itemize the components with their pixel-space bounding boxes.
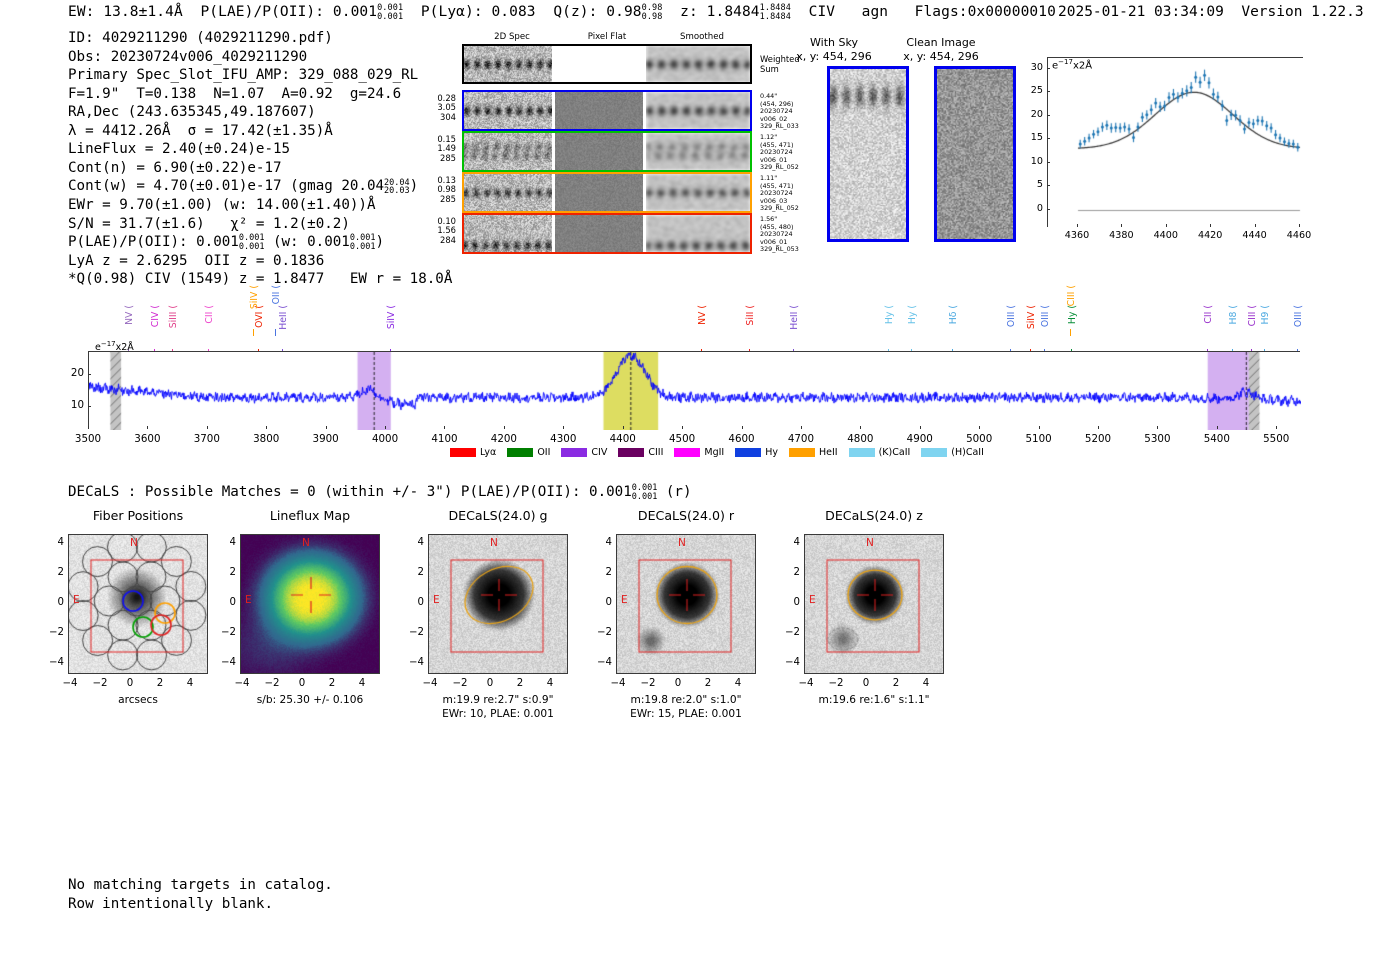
object-info-block: ID: 4029211290 (4029211290.pdf) Obs: 202… (68, 29, 452, 289)
emission-line-label: HeII ( (789, 305, 800, 330)
legend-swatch (561, 448, 587, 457)
cutout-ytick: 2 (780, 567, 800, 578)
line-fit-xtick: 4380 (1105, 230, 1137, 241)
cutout-xtick: 0 (118, 678, 142, 689)
montage-row-left-label: 0.15 1.49 285 (396, 135, 456, 163)
cutout-caption-1: arcsecs (38, 694, 238, 707)
cutout-xtick: 2 (884, 678, 908, 689)
line-fit-xtick: 4400 (1150, 230, 1182, 241)
panel-title-grayscale: DECaLS(24.0) g (403, 508, 593, 523)
footer-line-2: Row intentionally blank. (68, 895, 333, 914)
spectrum-xtick-mark (1217, 426, 1218, 429)
header-qz: Q(z): 0.98 (553, 4, 641, 20)
line-fit-xtick-mark (1299, 224, 1300, 227)
cutout-ytick: −4 (44, 657, 64, 668)
cutout-ytick: −4 (404, 657, 424, 668)
cell-smoothed (646, 174, 750, 211)
legend-item: Hy (735, 447, 778, 458)
cutout-xtick: 2 (148, 678, 172, 689)
spectrum-xtick-mark (266, 426, 267, 429)
info-primary-spec: Primary Spec_Slot_IFU_AMP: 329_088_029_R… (68, 66, 452, 85)
montage-row-right-label: 0.44" (454, 296) 20230724 v006_02 329_RL… (760, 93, 799, 131)
legend-label: CIV (591, 447, 607, 458)
compass-east: E (245, 594, 252, 606)
info-lineflux: LineFlux = 2.40(±0.24)e-15 (68, 140, 452, 159)
cutout-xtick: 4 (538, 678, 562, 689)
cutout-ytick: 0 (404, 597, 424, 608)
montage-row-right-label: 1.11" (455, 471) 20230724 v006_03 329_RL… (760, 175, 799, 213)
legend-label: (H)CaII (951, 447, 984, 458)
cell-pixelflat (555, 133, 643, 170)
cutout-xtick: 0 (290, 678, 314, 689)
info-cont-n: Cont(n) = 6.90(±0.22)e-17 (68, 159, 452, 178)
spectrum-xtick-mark (207, 426, 208, 429)
cutout-ytick: 4 (780, 537, 800, 548)
cutout-caption-1: m:19.9 re:2.7" s:0.9" (398, 694, 598, 707)
line-fit-ytick: 5 (1023, 179, 1043, 190)
emission-line-label: NV ( (124, 305, 135, 325)
legend-swatch (450, 448, 476, 457)
line-fit-ytick-mark (1047, 91, 1050, 92)
legend-item: MgII (674, 447, 724, 458)
header-flags: Flags:0x00000010 (915, 4, 1056, 20)
cutout-ytick: 2 (592, 567, 612, 578)
cutout-lineflux[interactable] (240, 534, 380, 674)
header-qz-range: 0.980.98 (642, 4, 663, 21)
info-cont-w: Cont(w) = 4.70(±0.01)e-17 (gmag 20.0420.… (68, 177, 452, 196)
montage-row[interactable]: 0.13 0.98 2851.11" (455, 471) 20230724 v… (462, 172, 752, 213)
emission-line-label: OIII ( (1040, 305, 1051, 327)
spectrum-xtick: 3500 (66, 433, 110, 445)
montage-row-left-label: 0.28 3.05 304 (396, 94, 456, 122)
emission-line-label: SiII ( (745, 305, 756, 326)
legend-swatch (618, 448, 644, 457)
legend-label: CIII (648, 447, 663, 458)
cutout-xtick: 4 (178, 678, 202, 689)
header-summary-line: EW: 13.8±1.4Å P(LAE)/P(OII): 0.0010.0010… (68, 4, 1056, 22)
cutout-caption-1: m:19.6 re:1.6" s:1.1" (774, 694, 974, 707)
compass-east: E (433, 594, 440, 606)
cell-smoothed (646, 215, 750, 252)
info-redshifts: LyA z = 2.6295 OII z = 0.1836 (68, 252, 452, 271)
montage-row[interactable]: 0.28 3.05 3040.44" (454, 296) 20230724 v… (462, 90, 752, 131)
legend-swatch (507, 448, 533, 457)
spectrum-xtick-mark (147, 426, 148, 429)
spectrum-xtick: 4000 (363, 433, 407, 445)
line-fit-ytick-mark (1047, 68, 1050, 69)
cutout-ytick: −4 (592, 657, 612, 668)
line-fit-ytick: 20 (1023, 109, 1043, 120)
emission-line-label: OII ( (271, 285, 282, 304)
spectrum-units-label: e−17x2Å (95, 340, 134, 353)
panel-title-fibers: Fiber Positions (43, 508, 233, 523)
cutout-ytick: 0 (216, 597, 236, 608)
cutout-caption-2: EWr: 10, PLAE: 0.001 (398, 708, 598, 721)
emission-line-tick (275, 329, 276, 336)
cutout-xtick: 4 (350, 678, 374, 689)
cutout-xtick: −2 (448, 678, 472, 689)
spectrum-xtick-mark (860, 426, 861, 429)
spectrum-xtick: 4600 (720, 433, 764, 445)
spectrum-xtick-mark (682, 426, 683, 429)
spectrum-ytick: 10 (60, 399, 84, 411)
spectrum-xtick: 4500 (660, 433, 704, 445)
col-title-2dspec: 2D Spec (462, 32, 562, 42)
line-fit-xtick-mark (1255, 224, 1256, 227)
cutout-xtick: −2 (260, 678, 284, 689)
montage-row-left-label: 0.13 0.98 285 (396, 176, 456, 204)
line-fit-xtick: 4460 (1283, 230, 1315, 241)
spectrum-xtick-mark (801, 426, 802, 429)
spectrum-xtick: 5000 (957, 433, 1001, 445)
compass-east: E (809, 594, 816, 606)
emission-line-label: H9 ( (1260, 305, 1271, 325)
cutout-ytick: 0 (44, 597, 64, 608)
compass-east: E (73, 594, 80, 606)
cutout-xtick: −4 (606, 678, 630, 689)
emission-line-label: SiIII ( (168, 305, 179, 328)
cleanimage-subtitle: x, y: 454, 296 (886, 50, 996, 63)
line-fit-xtick-mark (1166, 224, 1167, 227)
cutout-ytick: −2 (592, 627, 612, 638)
line-fit-ytick: 15 (1023, 132, 1043, 143)
emission-line-label: H8 ( (1228, 305, 1239, 325)
spectrum-xtick: 4700 (779, 433, 823, 445)
header-ew: EW: 13.8±1.4Å (68, 4, 183, 20)
cutout-xtick: 4 (914, 678, 938, 689)
spectrum-ytick-mark (88, 406, 91, 407)
montage-row-left-label: 0.10 1.56 284 (396, 217, 456, 245)
legend-item: (K)CaII (849, 447, 911, 458)
emission-line-label: SiIV ( (249, 285, 260, 309)
header-species: CIV (809, 4, 836, 20)
cutout-xtick: −2 (88, 678, 112, 689)
cutout-xtick: −4 (794, 678, 818, 689)
cutout-grayscale[interactable] (616, 534, 756, 674)
spectrum-xtick: 3800 (244, 433, 288, 445)
line-fit-ytick: 30 (1023, 62, 1043, 73)
spectrum-xtick-mark (920, 426, 921, 429)
compass-east: E (621, 594, 628, 606)
emission-line-tick (253, 329, 254, 336)
cell-pixelflat (555, 174, 643, 211)
header-version: Version 1.22.3 (1241, 4, 1363, 20)
emission-line-label: CIII ( (1247, 305, 1258, 326)
cell-pixelflat (555, 46, 643, 82)
cutout-ytick: −2 (780, 627, 800, 638)
cutout-xtick: −4 (230, 678, 254, 689)
line-fit-ytick-mark (1047, 185, 1050, 186)
info-plae: P(LAE)/P(OII): 0.0010.0010.001 (w: 0.001… (68, 233, 452, 252)
emission-line-label: CII ( (204, 305, 215, 324)
line-fit-ytick-mark (1047, 115, 1050, 116)
emission-line-label: Hy ( (1067, 305, 1078, 324)
cell-pixelflat (555, 92, 643, 129)
spectrum-xtick: 4800 (838, 433, 882, 445)
spectrum-xtick-mark (444, 426, 445, 429)
legend-item: HeII (789, 447, 838, 458)
withsky-cutout[interactable] (827, 66, 909, 242)
line-fit-plot[interactable] (1047, 57, 1303, 227)
emission-line-label: SiIV ( (1026, 305, 1037, 329)
emission-line-label: CIII ( (1066, 285, 1077, 306)
legend-label: Hy (765, 447, 778, 458)
compass-north: N (302, 537, 310, 549)
cell-smoothed (646, 46, 750, 82)
info-sn-chi: S/N = 31.7(±1.6) χ² = 1.2(±0.2) (68, 215, 452, 234)
info-lambda-sigma: λ = 4412.26Å σ = 17.42(±1.35)Å (68, 122, 452, 141)
compass-north: N (490, 537, 498, 549)
header-z: z: 1.8484 (680, 4, 759, 20)
spectrum-xtick: 4200 (482, 433, 526, 445)
footer-note: No matching targets in catalog. Row inte… (68, 876, 333, 913)
legend-label: Lyα (480, 447, 496, 458)
header-plae-poii-range: 0.0010.001 (377, 4, 403, 21)
cutout-ytick: −2 (44, 627, 64, 638)
cutout-caption-1: m:19.8 re:2.0" s:1.0" (586, 694, 786, 707)
legend-item: CIV (561, 447, 607, 458)
spectrum-xtick: 3600 (125, 433, 169, 445)
spectrum-xtick: 4300 (541, 433, 585, 445)
cutout-ytick: −4 (780, 657, 800, 668)
cutout-caption-1: s/b: 25.30 +/- 0.106 (210, 694, 410, 707)
montage-row[interactable]: 0.15 1.49 2851.12" (455, 471) 20230724 v… (462, 131, 752, 172)
cutout-ytick: 4 (592, 537, 612, 548)
legend-item: (H)CaII (921, 447, 984, 458)
cutout-grayscale[interactable] (428, 534, 568, 674)
emission-line-label: Hy ( (884, 305, 895, 324)
cell-2dspec (464, 133, 552, 170)
spectrum-xtick-mark (979, 426, 980, 429)
cell-smoothed (646, 92, 750, 129)
cutout-ytick: 2 (404, 567, 424, 578)
emission-line-label: OIII ( (1293, 305, 1304, 327)
cutout-grayscale[interactable] (804, 534, 944, 674)
spectrum-xtick-mark (88, 426, 89, 429)
withsky-subtitle: x, y: 454, 296 (779, 50, 889, 63)
cutout-xtick: 2 (508, 678, 532, 689)
montage-row-weighted-sum[interactable]: Weighted Sum (462, 44, 752, 84)
cutout-ytick: 2 (44, 567, 64, 578)
cell-pixelflat (555, 215, 643, 252)
compass-north: N (678, 537, 686, 549)
legend-swatch (789, 448, 815, 457)
cutout-ytick: 2 (216, 567, 236, 578)
cutout-ytick: −2 (216, 627, 236, 638)
spectrum-xtick-mark (1098, 426, 1099, 429)
spectrum-xtick: 3700 (185, 433, 229, 445)
cutout-ytick: 0 (780, 597, 800, 608)
emission-line-label: CII ( (1203, 305, 1214, 324)
legend-swatch (849, 448, 875, 457)
cutout-xtick: 0 (854, 678, 878, 689)
panel-title-grayscale: DECaLS(24.0) r (591, 508, 781, 523)
spectrum-xtick: 4100 (422, 433, 466, 445)
cell-2dspec (464, 92, 552, 129)
emission-line-tick (1070, 329, 1071, 336)
info-seeing: F=1.9" T=0.138 N=1.07 A=0.92 g=24.6 (68, 85, 452, 104)
cutout-xtick: −4 (58, 678, 82, 689)
header-plae-poii: P(LAE)/P(OII): 0.001 (200, 4, 377, 20)
cleanimage-title: Clean Image (886, 36, 996, 49)
col-title-pixelflat: Pixel Flat (557, 32, 657, 42)
cutout-ytick: 0 (592, 597, 612, 608)
col-title-smoothed: Smoothed (652, 32, 752, 42)
spectrum-xtick: 5500 (1254, 433, 1298, 445)
montage-row-right-label: 1.56" (455, 480) 20230724 v006_01 329_RL… (760, 216, 799, 254)
line-fit-ytick: 0 (1023, 203, 1043, 214)
cutout-xtick: −2 (636, 678, 660, 689)
line-fit-xtick-mark (1210, 224, 1211, 227)
header-timestamp-version: 2025-01-21 03:34:09 Version 1.22.3 (1058, 4, 1364, 20)
legend-swatch (735, 448, 761, 457)
info-id: ID: 4029211290 (4029211290.pdf) (68, 29, 452, 48)
line-fit-xtick: 4420 (1194, 230, 1226, 241)
spectrum-xtick: 5100 (1017, 433, 1061, 445)
cutout-ytick: 4 (44, 537, 64, 548)
emission-line-label: NV ( (697, 305, 708, 325)
cutout-caption-2: EWr: 15, PLAE: 0.001 (586, 708, 786, 721)
panel-title-grayscale: DECaLS(24.0) z (779, 508, 969, 523)
cutout-xtick: 2 (320, 678, 344, 689)
line-fit-ytick: 25 (1023, 85, 1043, 96)
cutout-xtick: 0 (478, 678, 502, 689)
withsky-title: With Sky (779, 36, 889, 49)
full-spectrum-plot[interactable] (88, 351, 1300, 429)
compass-north: N (866, 537, 874, 549)
legend-item: Lyα (450, 447, 496, 458)
cutout-ytick: −2 (404, 627, 424, 638)
panel-title-lineflux: Lineflux Map (215, 508, 405, 523)
emission-line-label: CIV ( (150, 305, 161, 327)
info-qline: *Q(0.98) CIV (1549) z = 1.8477 EW r = 18… (68, 270, 452, 289)
line-fit-ytick: 10 (1023, 156, 1043, 167)
legend-label: HeII (819, 447, 838, 458)
header-plya: P(Lyα): 0.083 (421, 4, 536, 20)
line-fit-xtick-mark (1077, 224, 1078, 227)
spectrum-xtick: 5300 (1135, 433, 1179, 445)
cutout-xtick: 0 (666, 678, 690, 689)
cell-smoothed (646, 133, 750, 170)
spectrum-xtick: 3900 (304, 433, 348, 445)
info-obs: Obs: 20230724v006_4029211290 (68, 48, 452, 67)
legend-label: MgII (704, 447, 724, 458)
cleanimage-cutout[interactable] (934, 66, 1016, 242)
spectrum-xtick-mark (1276, 426, 1277, 429)
montage-row[interactable]: 0.10 1.56 2841.56" (455, 480) 20230724 v… (462, 213, 752, 254)
legend-swatch (674, 448, 700, 457)
info-ewr: EWr = 9.70(±1.00) (w: 14.00(±1.40))Å (68, 196, 452, 215)
spectrum-xtick: 5200 (1076, 433, 1120, 445)
cutout-xtick: 2 (696, 678, 720, 689)
cutout-xtick: −4 (418, 678, 442, 689)
cutout-ytick: 4 (404, 537, 424, 548)
montage-row-right-label: 1.12" (455, 471) 20230724 v006_01 329_RL… (760, 134, 799, 172)
spectrum-xtick-mark (385, 426, 386, 429)
legend-swatch (921, 448, 947, 457)
emission-line-label: Hδ ( (948, 305, 959, 324)
cutout-xtick: −2 (824, 678, 848, 689)
emission-line-label: OIII ( (1006, 305, 1017, 327)
cell-2dspec (464, 46, 552, 82)
line-fit-units-label: e−17x2Å (1052, 58, 1092, 71)
cell-2dspec (464, 215, 552, 252)
spectrum-xtick: 4900 (898, 433, 942, 445)
cutout-xtick: 4 (726, 678, 750, 689)
cutout-ytick: −4 (216, 657, 236, 668)
cutout-ytick: 4 (216, 537, 236, 548)
spectrum-legend: LyαOIICIVCIIIMgIIHyHeII(K)CaII(H)CaII (450, 447, 984, 458)
spectrum-ytick: 20 (60, 367, 84, 379)
line-fit-ytick-mark (1047, 209, 1050, 210)
legend-label: OII (537, 447, 550, 458)
spectrum-xtick-mark (1157, 426, 1158, 429)
spectrum-xtick-mark (563, 426, 564, 429)
emission-line-label: Hy ( (907, 305, 918, 324)
emission-line-label: SiIV ( (386, 305, 397, 329)
legend-item: OII (507, 447, 550, 458)
spectrum-xtick: 4400 (601, 433, 645, 445)
line-fit-xtick: 4440 (1239, 230, 1271, 241)
info-radec: RA,Dec (243.635345,49.187607) (68, 103, 452, 122)
header-z-range: 1.84841.8484 (760, 4, 791, 21)
line-fit-ytick-mark (1047, 162, 1050, 163)
header-timestamp: 2025-01-21 03:34:09 (1058, 4, 1224, 20)
spectrum-xtick-mark (742, 426, 743, 429)
emission-line-label: HeII ( (278, 305, 289, 330)
spectrum-xtick-mark (1039, 426, 1040, 429)
line-fit-xtick-mark (1121, 224, 1122, 227)
cell-2dspec (464, 174, 552, 211)
spectrum-ytick-mark (88, 374, 91, 375)
header-class: agn (862, 4, 889, 20)
spectrum-xtick: 5400 (1195, 433, 1239, 445)
spectrum-xtick-mark (326, 426, 327, 429)
cutout-fibers[interactable] (68, 534, 208, 674)
compass-north: N (130, 537, 138, 549)
footer-line-1: No matching targets in catalog. (68, 876, 333, 895)
line-fit-ytick-mark (1047, 138, 1050, 139)
decals-summary: DECaLS : Possible Matches = 0 (within +/… (68, 484, 692, 502)
legend-label: (K)CaII (879, 447, 911, 458)
legend-item: CIII (618, 447, 663, 458)
spectrum-xtick-mark (623, 426, 624, 429)
spectrum-xtick-mark (504, 426, 505, 429)
line-fit-xtick: 4360 (1061, 230, 1093, 241)
